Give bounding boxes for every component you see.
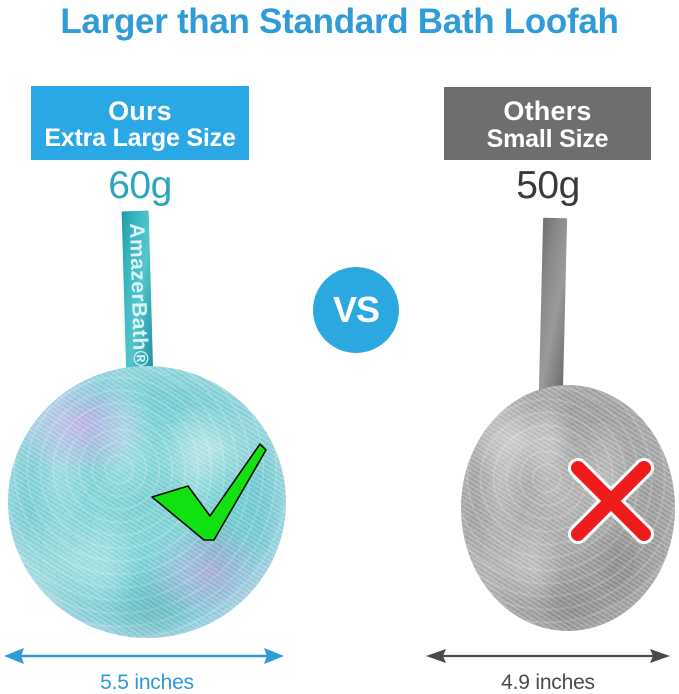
x-mark-icon (562, 452, 660, 550)
ours-hanging-strap: AmazerBath® (122, 211, 154, 380)
ours-strap-brand-text: AmazerBath® (124, 223, 152, 367)
ours-badge-title: Ours (108, 97, 172, 125)
others-badge-subtitle: Small Size (487, 126, 609, 152)
others-badge-title: Others (503, 97, 591, 125)
page-title: Larger than Standard Bath Loofah (0, 2, 679, 42)
product-comparison-image: Larger than Standard Bath Loofah Ours Ex… (0, 0, 679, 694)
ours-badge: Ours Extra Large Size (31, 86, 249, 160)
others-badge: Others Small Size (444, 87, 651, 160)
ours-measure-arrow-icon (2, 644, 292, 668)
versus-badge: VS (313, 267, 399, 353)
others-hanging-strap (539, 218, 567, 395)
ours-badge-subtitle: Extra Large Size (44, 125, 235, 151)
ours-measurement: 5.5 inches (2, 644, 292, 694)
ours-weight-label: 60g (60, 164, 220, 208)
others-weight-label: 50g (468, 164, 628, 208)
versus-label: VS (333, 289, 379, 331)
others-measurement-label: 4.9 inches (420, 671, 676, 694)
ours-measurement-label: 5.5 inches (2, 671, 292, 694)
check-mark-icon (148, 440, 270, 544)
others-measure-arrow-icon (420, 644, 676, 668)
others-measurement: 4.9 inches (420, 644, 676, 694)
